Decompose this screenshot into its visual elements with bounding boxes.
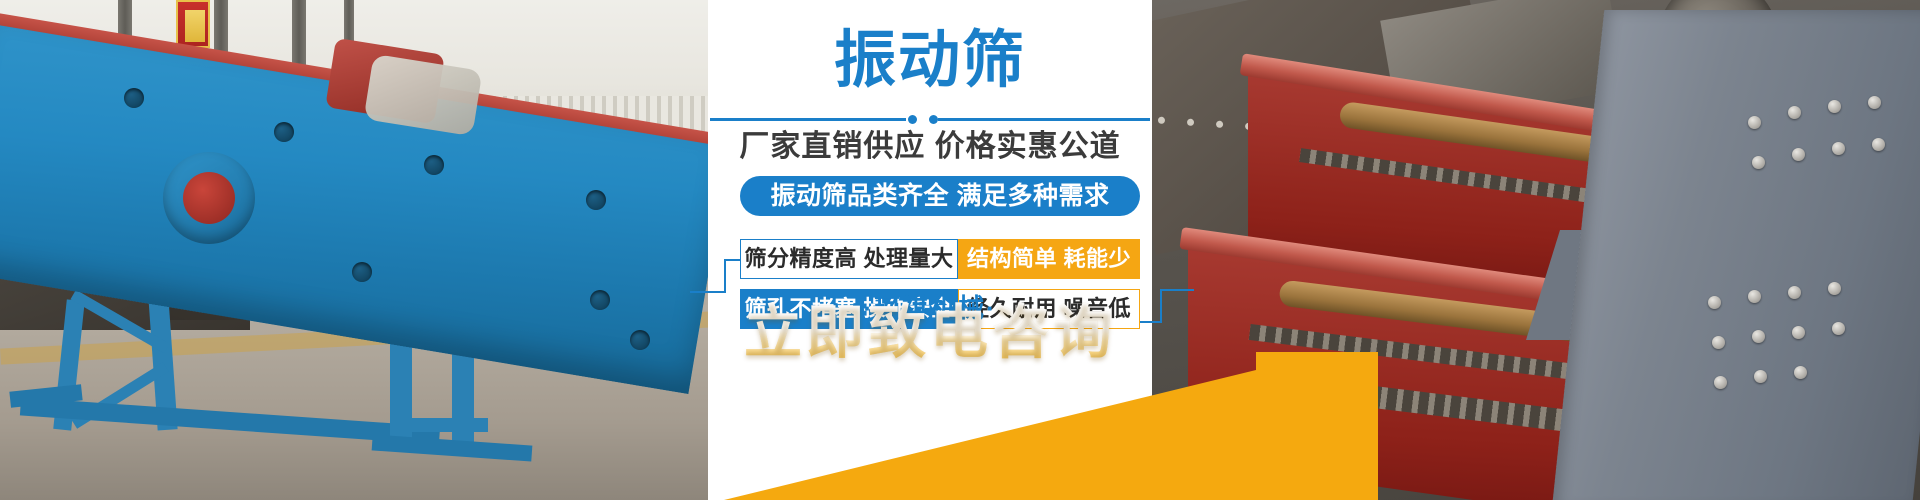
body-hole xyxy=(274,122,294,142)
bolted-side-panel xyxy=(1552,10,1920,500)
body-hole xyxy=(590,290,610,310)
subtitle: 厂家直销供应 价格实惠公道 xyxy=(708,128,1152,166)
title-divider xyxy=(710,112,1150,126)
feature-left-1: 筛分精度高 处理量大 xyxy=(740,239,958,279)
body-hole xyxy=(124,88,144,108)
divider-line-right xyxy=(938,118,1150,121)
warehouse-sign xyxy=(176,0,210,48)
page-title: 振动筛 xyxy=(708,28,1152,94)
product-banner: 振动筛 厂家直销供应 价格实惠公道 振动筛品类齐全 满足多种需求 筛分精度高 处… xyxy=(0,0,1920,500)
divider-line-left xyxy=(710,118,906,121)
divider-dot-left xyxy=(908,115,917,124)
cta-text: 立即致电咨询 xyxy=(708,300,1152,366)
body-hole xyxy=(586,190,606,210)
body-hole xyxy=(424,155,444,175)
support-brace xyxy=(396,418,488,432)
left-product-photo xyxy=(0,0,712,500)
body-hole xyxy=(630,330,650,350)
feature-right-1: 结构简单 耗能少 xyxy=(958,239,1140,279)
eccentric-shaft-housing xyxy=(163,152,255,244)
body-hole xyxy=(352,262,372,282)
highlight-pill: 振动筛品类齐全 满足多种需求 xyxy=(740,176,1140,216)
divider-dot-right xyxy=(929,115,938,124)
center-text-panel: 振动筛 厂家直销供应 价格实惠公道 振动筛品类齐全 满足多种需求 筛分精度高 处… xyxy=(708,0,1152,500)
feature-row-1: 筛分精度高 处理量大 结构简单 耗能少 xyxy=(740,239,1140,279)
